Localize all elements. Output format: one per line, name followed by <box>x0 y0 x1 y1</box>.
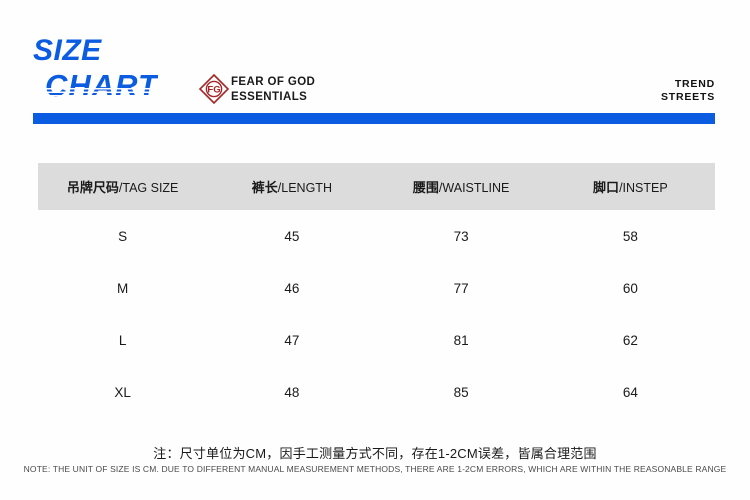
column-header-instep-en: INSTEP <box>623 181 668 195</box>
cell-waistline: 85 <box>377 385 546 400</box>
column-header-length: 裤长/LENGTH <box>207 177 376 196</box>
table-body: S 45 73 58 M 46 77 60 L 47 81 62 XL 48 8… <box>38 210 715 418</box>
cell-instep: 64 <box>546 385 715 400</box>
cell-length: 46 <box>207 281 376 296</box>
cell-waistline: 77 <box>377 281 546 296</box>
column-header-tag-size: 吊牌尺码/TAG SIZE <box>38 177 207 196</box>
column-header-instep-cn: 脚口 <box>593 180 619 195</box>
title-word-chart: CHART <box>45 69 158 103</box>
title-word-chart-wrapper: CHART <box>45 69 158 103</box>
trend-streets-line2: STREETS <box>661 91 715 104</box>
cell-instep: 62 <box>546 333 715 348</box>
brand-wordmark-line1: FEAR OF GOD <box>231 75 315 90</box>
cell-waistline: 73 <box>377 229 546 244</box>
table-header-row: 吊牌尺码/TAG SIZE 裤长/LENGTH 腰围/WAISTLINE 脚口/… <box>38 163 715 210</box>
cell-size: XL <box>38 385 207 400</box>
table-row: XL 48 85 64 <box>38 366 715 418</box>
cell-instep: 58 <box>546 229 715 244</box>
cell-length: 48 <box>207 385 376 400</box>
title-word-size: SIZE <box>33 36 102 66</box>
table-row: M 46 77 60 <box>38 262 715 314</box>
cell-waistline: 81 <box>377 333 546 348</box>
note-chinese: 注：尺寸单位为CM，因手工测量方式不同，存在1-2CM误差，皆属合理范围 <box>0 443 750 462</box>
column-header-instep: 脚口/INSTEP <box>546 177 715 196</box>
column-header-tag-size-en: TAG SIZE <box>122 181 178 195</box>
note-english: NOTE: THE UNIT OF SIZE IS CM. DUE TO DIF… <box>0 464 750 474</box>
header: SIZE CHART FG FEAR OF GOD ESSENTIALS TRE… <box>0 0 750 130</box>
cell-size: L <box>38 333 207 348</box>
brand-wordmark: FEAR OF GOD ESSENTIALS <box>231 75 315 104</box>
cell-size: M <box>38 281 207 296</box>
table-row: S 45 73 58 <box>38 210 715 262</box>
cell-instep: 60 <box>546 281 715 296</box>
cell-length: 47 <box>207 333 376 348</box>
column-header-waistline-cn: 腰围 <box>413 180 439 195</box>
column-header-waistline: 腰围/WAISTLINE <box>377 177 546 196</box>
brand-wordmark-line2: ESSENTIALS <box>231 90 315 105</box>
column-header-length-en: LENGTH <box>281 181 332 195</box>
size-table: 吊牌尺码/TAG SIZE 裤长/LENGTH 腰围/WAISTLINE 脚口/… <box>38 163 715 418</box>
trend-streets-label: TREND STREETS <box>661 78 715 104</box>
cell-size: S <box>38 229 207 244</box>
trend-streets-line1: TREND <box>661 78 715 91</box>
cell-length: 45 <box>207 229 376 244</box>
column-header-tag-size-cn: 吊牌尺码 <box>67 180 119 195</box>
column-header-waistline-en: WAISTLINE <box>442 181 509 195</box>
header-blue-divider <box>33 113 715 124</box>
table-row: L 47 81 62 <box>38 314 715 366</box>
fear-of-god-diamond-icon: FG <box>198 73 230 105</box>
svg-text:FG: FG <box>207 85 220 96</box>
column-header-length-cn: 裤长 <box>252 180 278 195</box>
size-chart-page: SIZE CHART FG FEAR OF GOD ESSENTIALS TRE… <box>0 0 750 500</box>
